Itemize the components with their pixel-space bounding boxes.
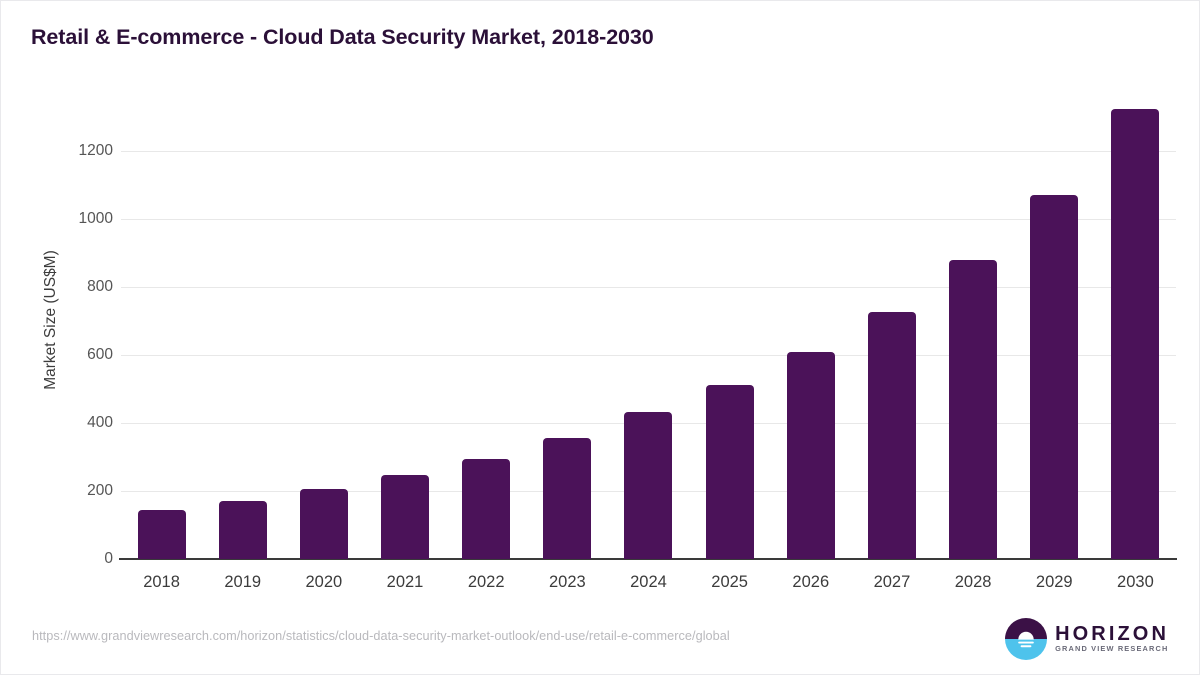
horizon-logo-icon [1005,618,1047,660]
bar-2023[interactable] [543,438,591,559]
bar-slot [202,151,283,559]
x-axis-tick-label: 2028 [933,573,1014,592]
bar-slot [283,151,364,559]
x-axis-tick-label: 2020 [283,573,364,592]
x-axis-tick-label: 2025 [689,573,770,592]
y-axis-label: Market Size (US$M) [42,210,60,430]
chart-page: Retail & E-commerce - Cloud Data Securit… [0,0,1200,675]
bar-slot [608,151,689,559]
bar-2019[interactable] [219,501,267,559]
source-url[interactable]: https://www.grandviewresearch.com/horizo… [32,629,730,643]
y-axis-tick-label: 200 [13,482,113,500]
bar-slot [446,151,527,559]
chart-plot-area: Market Size (US$M) 020040060080010001200… [1,1,1200,675]
x-axis-tick-label: 2027 [851,573,932,592]
y-axis-tick-label: 0 [13,550,113,568]
bar-slot [364,151,445,559]
bar-slot [770,151,851,559]
horizon-logo: HORIZON GRAND VIEW RESEARCH [1005,618,1169,660]
bar-2027[interactable] [868,312,916,559]
bar-2025[interactable] [706,385,754,559]
bar-2029[interactable] [1030,195,1078,559]
bar-2018[interactable] [138,510,186,559]
horizon-logo-text: HORIZON GRAND VIEW RESEARCH [1055,624,1169,653]
x-axis-tick-label: 2023 [527,573,608,592]
bar-2024[interactable] [624,412,672,559]
x-axis-tick-label: 2021 [364,573,445,592]
bar-2028[interactable] [949,260,997,559]
x-axis-tick-label: 2022 [446,573,527,592]
bar-2021[interactable] [381,475,429,559]
y-axis-tick-label: 1200 [13,142,113,160]
y-axis-tick-label: 800 [13,278,113,296]
x-axis-tick-label: 2030 [1095,573,1176,592]
bar-slot [1095,151,1176,559]
bar-slot [121,151,202,559]
logo-subtitle: GRAND VIEW RESEARCH [1055,645,1169,653]
bar-slot [527,151,608,559]
bar-2026[interactable] [787,352,835,559]
bar-2022[interactable] [462,459,510,559]
x-axis-tick-label: 2029 [1014,573,1095,592]
x-axis-tick-label: 2019 [202,573,283,592]
bar-series [121,151,1176,559]
logo-name: HORIZON [1055,624,1169,645]
bar-slot [689,151,770,559]
bar-2030[interactable] [1111,109,1159,560]
x-axis-tick-label: 2018 [121,573,202,592]
y-axis-tick-label: 1000 [13,210,113,228]
x-axis-tick-label: 2024 [608,573,689,592]
bar-slot [1014,151,1095,559]
bar-slot [851,151,932,559]
x-axis-tick-label: 2026 [770,573,851,592]
bar-2020[interactable] [300,489,348,559]
bar-slot [933,151,1014,559]
y-axis-tick-label: 400 [13,414,113,432]
y-axis-tick-label: 600 [13,346,113,364]
